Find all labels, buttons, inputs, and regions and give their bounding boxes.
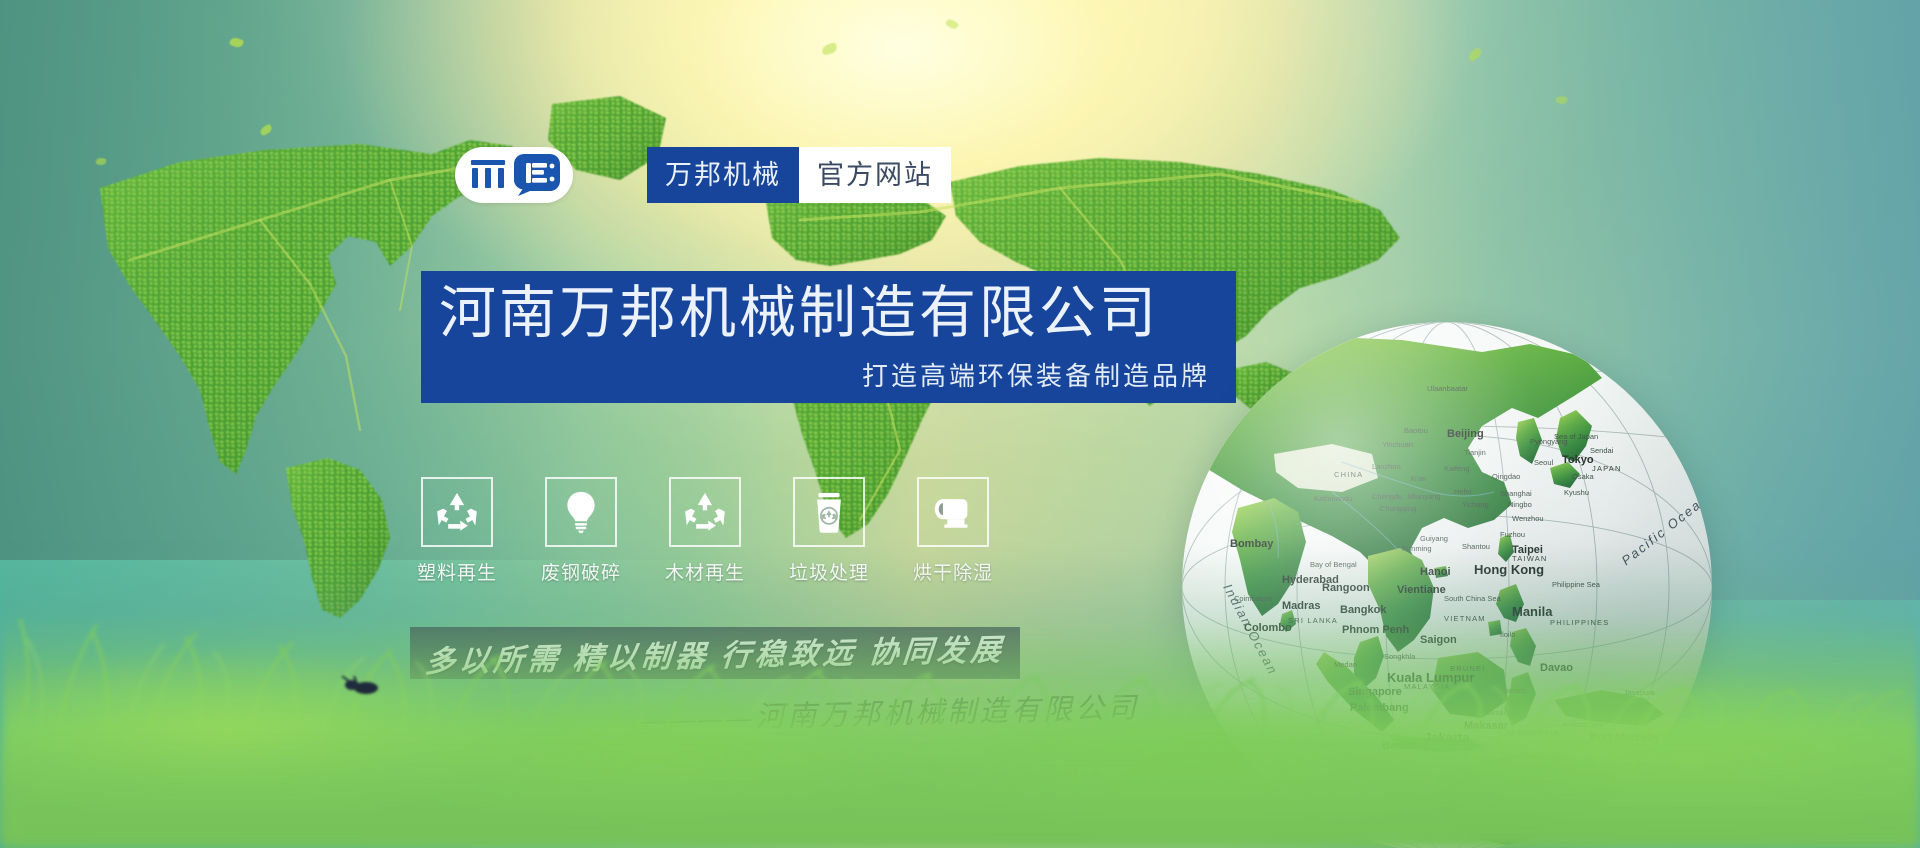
tab-brand[interactable]: 万邦机械 [647,147,799,203]
recycle-icon [682,489,728,535]
page-subtitle: 打造高端环保装备制造品牌 [439,356,1210,393]
service-icon-box [917,477,989,547]
service-icon-box [793,477,865,547]
grass-haze [0,718,1920,848]
logo-w-icon [468,158,508,192]
trash-bin-icon [806,489,852,535]
hero-banner: 万邦机械 官方网站 河南万邦机械制造有限公司 打造高端环保装备制造品牌 [0,0,1920,848]
nav-tabs: 万邦机械 官方网站 [647,147,951,203]
recycle-icon [434,489,480,535]
service-icon-box [545,477,617,547]
dryer-blower-icon [930,489,976,535]
brand-header: 万邦机械 官方网站 [455,144,951,206]
insect-silhouette [340,676,386,696]
service-icon-box [421,477,493,547]
service-icon-box [669,477,741,547]
page-title: 河南万邦机械制造有限公司 [439,283,1210,343]
tab-brand-label: 万邦机械 [665,162,781,189]
logo-b-bubble-icon [514,154,560,196]
tab-official-site[interactable]: 官方网站 [799,147,951,203]
company-logo[interactable] [455,147,573,203]
hero-title-panel: 河南万邦机械制造有限公司 打造高端环保装备制造品牌 [421,271,1236,403]
tab-official-site-label: 官方网站 [817,162,933,189]
lightbulb-icon [558,489,604,535]
